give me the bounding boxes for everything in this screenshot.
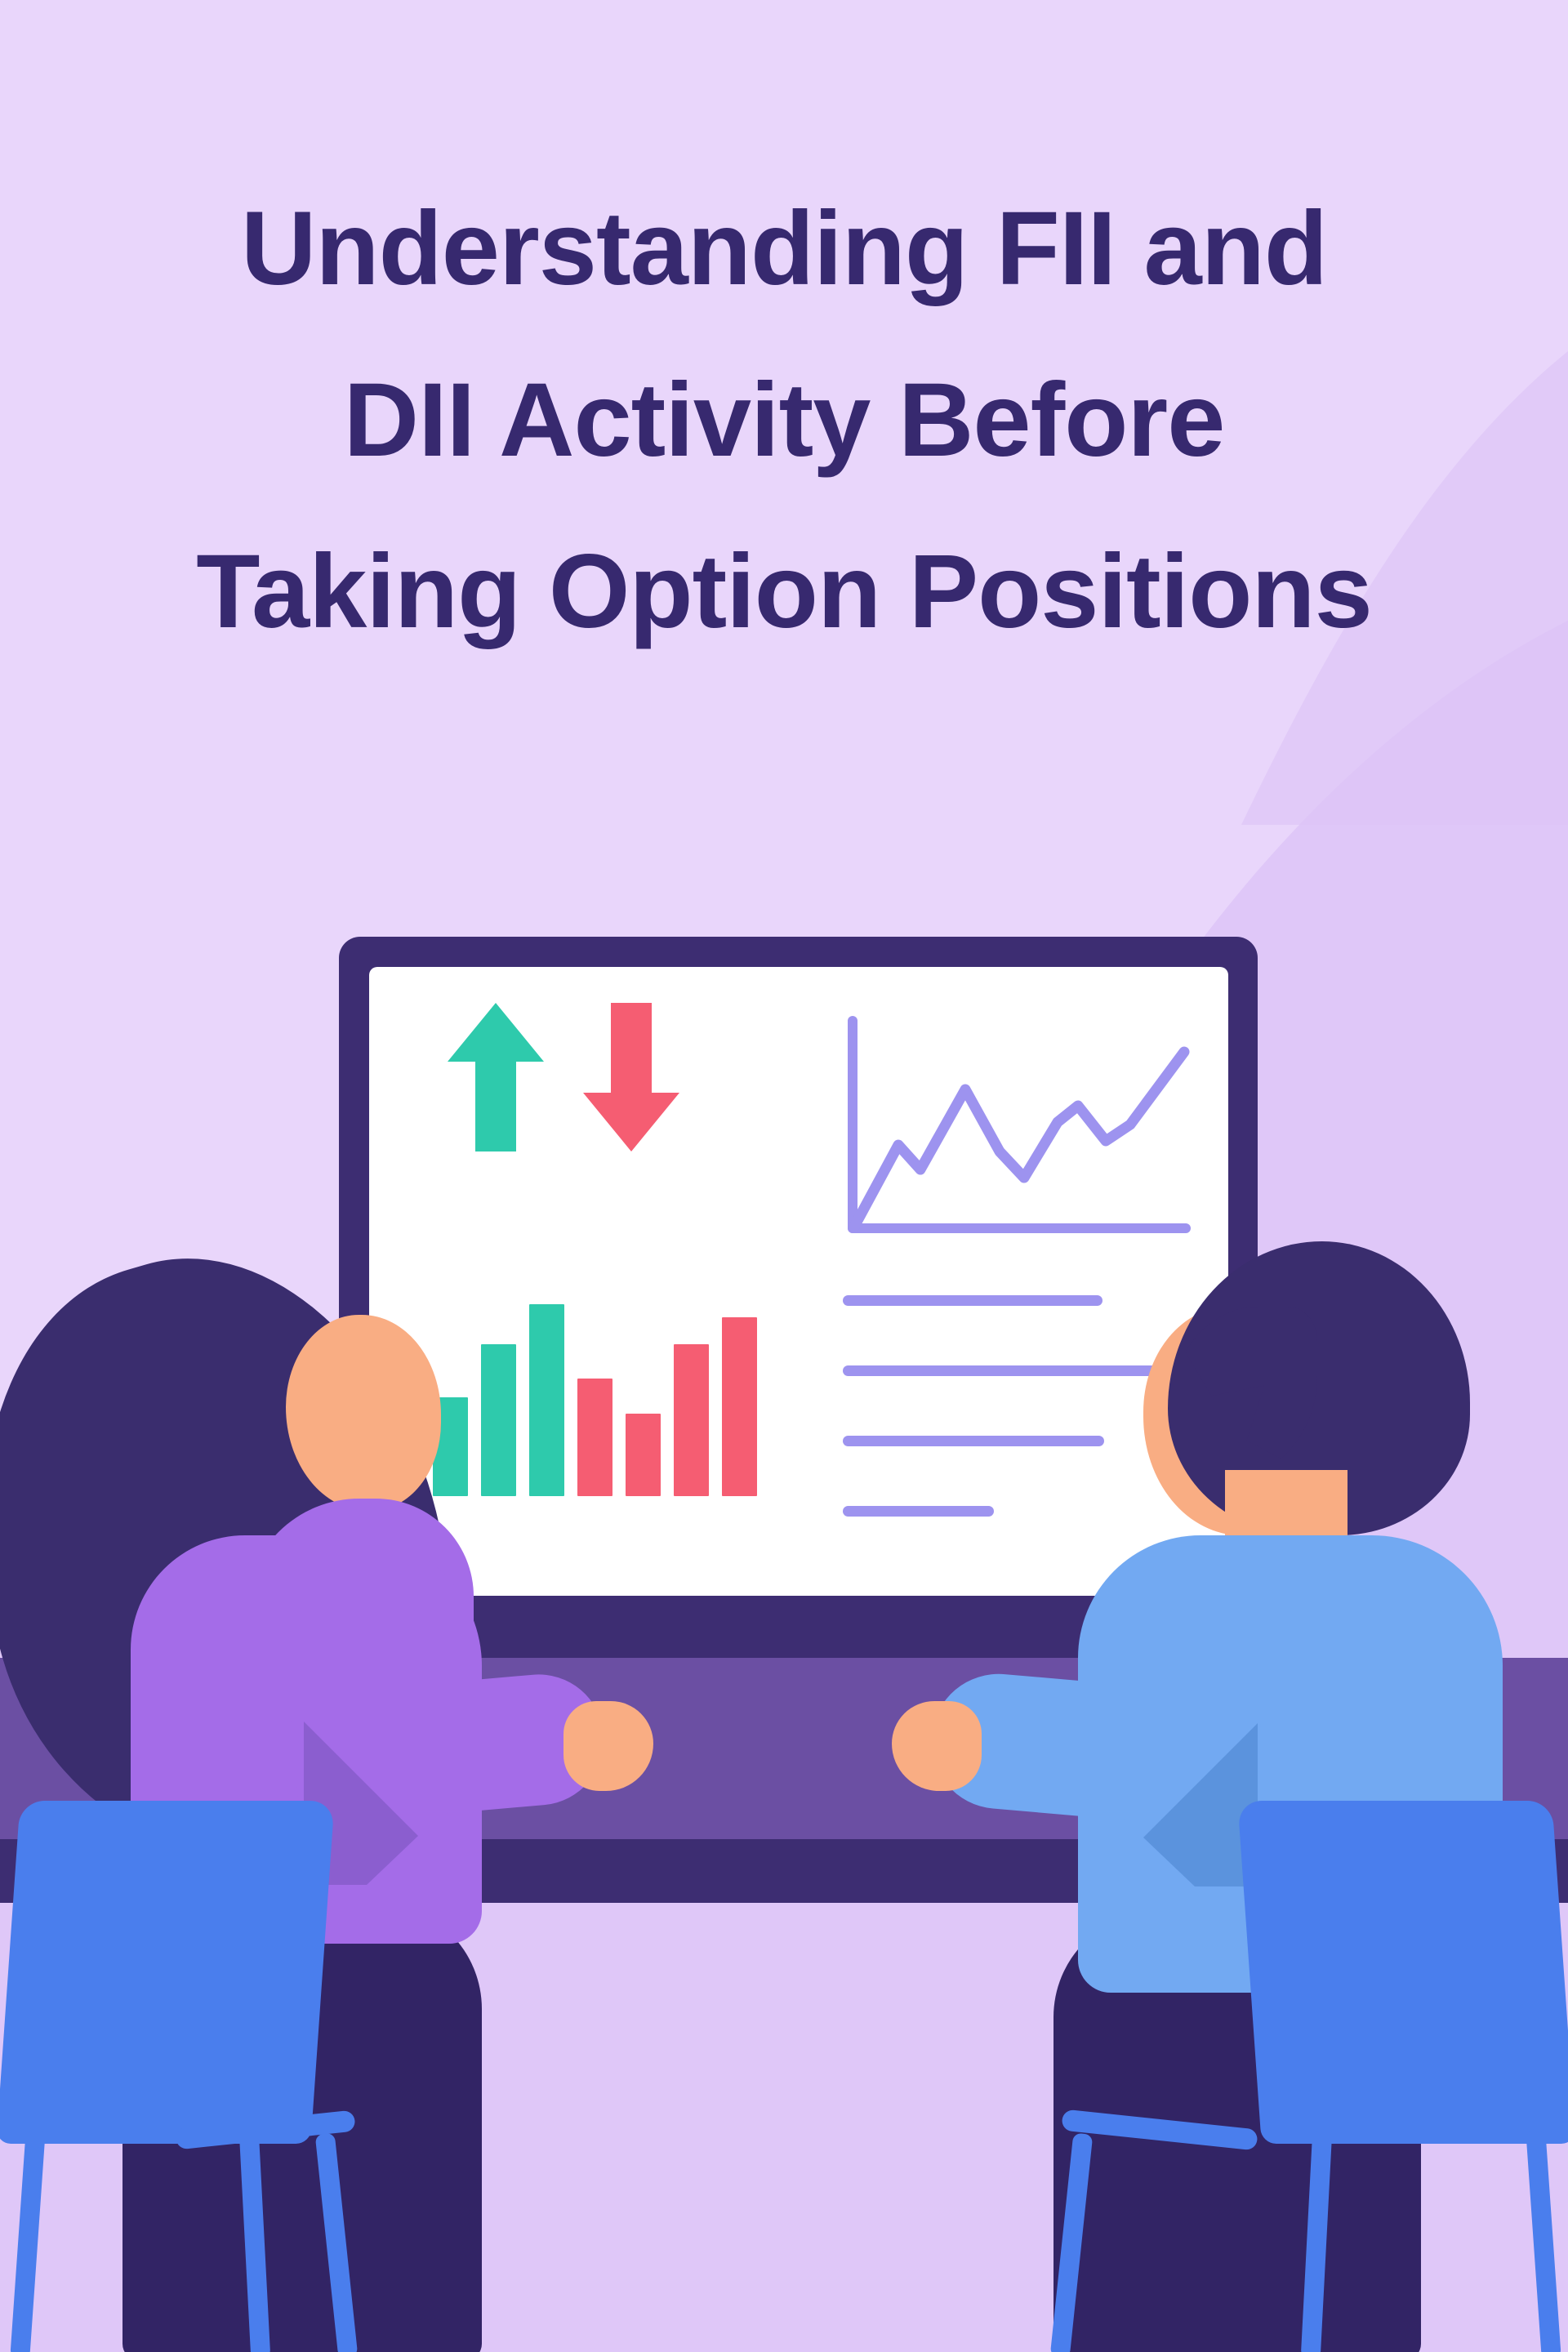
- chair-left-leg-1: [10, 2130, 45, 2352]
- line-chart-series: [854, 1052, 1184, 1227]
- desk-back-plank: [379, 1613, 1196, 1662]
- title-line-3: Taking Option Positions: [0, 506, 1568, 678]
- man-hand: [892, 1701, 982, 1791]
- chair-right-backrest: [1237, 1801, 1568, 2144]
- line-chart: [843, 1014, 1194, 1284]
- bar-7: [722, 1317, 757, 1496]
- bar-4: [577, 1379, 612, 1496]
- bar-6: [674, 1344, 709, 1496]
- title-line-1: Understanding FII and: [0, 163, 1568, 335]
- title-line-2: DII Activity Before: [0, 335, 1568, 506]
- screen-text-line-4: [843, 1506, 994, 1517]
- bar-2: [481, 1344, 516, 1496]
- bar-3: [529, 1304, 564, 1496]
- screen-text-line-2: [843, 1365, 1165, 1376]
- bar-5: [626, 1414, 661, 1496]
- up-arrow-icon: [448, 1003, 544, 1151]
- bar-chart: [433, 1285, 759, 1496]
- poster-title: Understanding FII and DII Activity Befor…: [0, 163, 1568, 678]
- screen-text-line-1: [843, 1295, 1102, 1306]
- chair-right-leg-1: [1526, 2130, 1561, 2352]
- down-arrow-icon: [583, 1003, 679, 1151]
- screen-text-line-3: [843, 1436, 1104, 1446]
- monitor-screen: [369, 967, 1228, 1596]
- chair-left-backrest: [0, 1801, 335, 2144]
- poster-canvas: Understanding FII and DII Activity Befor…: [0, 0, 1568, 2352]
